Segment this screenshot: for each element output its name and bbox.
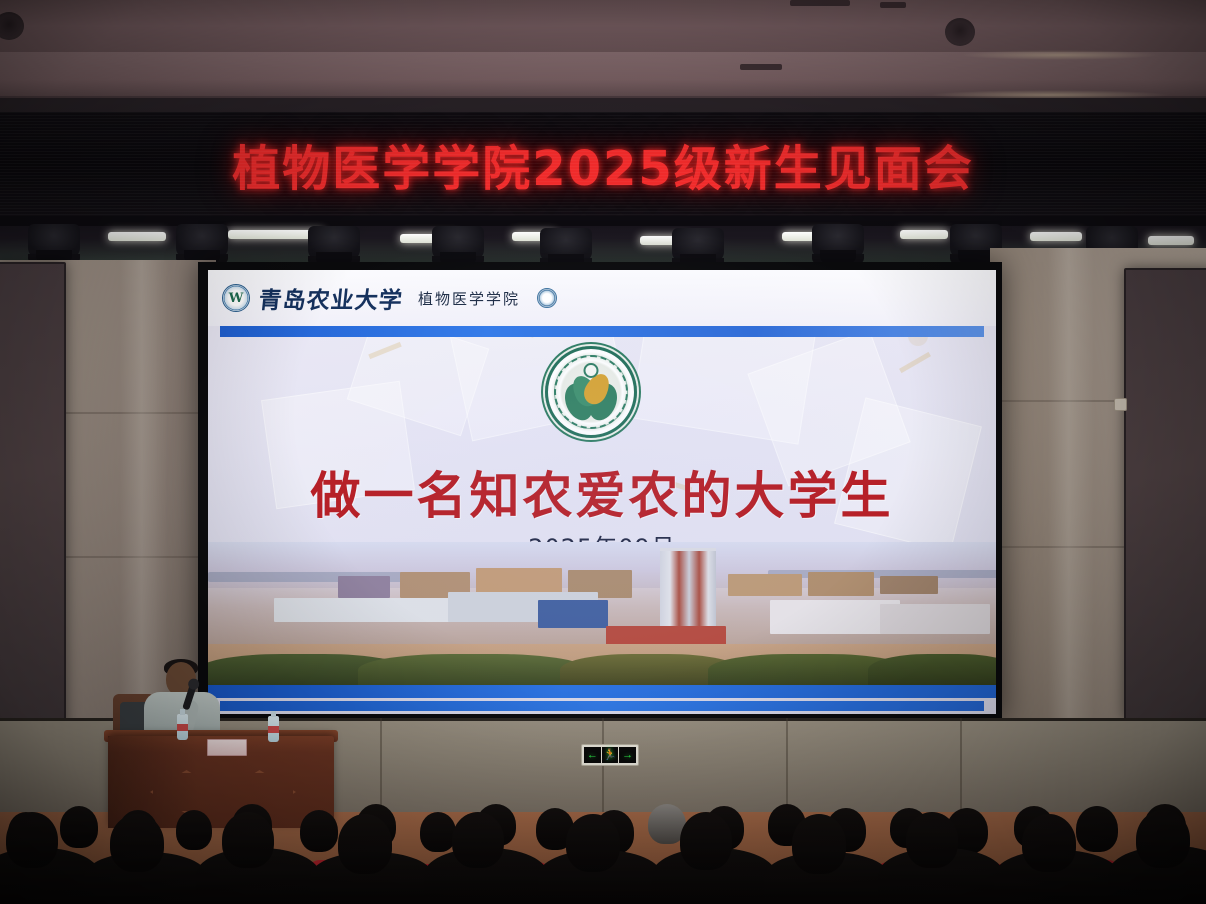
photo-building — [880, 604, 990, 634]
audience-head — [566, 814, 620, 872]
audience-head — [680, 812, 732, 870]
photo-high-rise — [660, 548, 716, 634]
presentation-slide: 青岛农业大学 植物医学学院 做一名知农爱农的大学生 2025年09月 — [208, 270, 996, 714]
audience-head — [420, 812, 456, 852]
audience-head — [222, 812, 274, 868]
photo-building — [728, 574, 802, 596]
slide-footer-bar — [220, 701, 984, 711]
slide-header-rule — [220, 326, 984, 337]
slide-header: 青岛农业大学 植物医学学院 — [208, 270, 996, 326]
audience-head — [338, 814, 392, 874]
spotlight-icon — [28, 224, 80, 258]
led-scanline-overlay — [0, 112, 1206, 216]
photo-building — [338, 576, 390, 598]
emergency-exit-icon: ← 🏃 → — [581, 744, 639, 766]
audience-head — [110, 814, 164, 872]
tube-light-icon — [1030, 232, 1082, 241]
exit-arrow-right: → — [622, 750, 633, 761]
emblem-top-dot — [584, 363, 599, 378]
spotlight-icon — [672, 228, 724, 262]
auditorium-scene: 植物医学学院2025级新生见面会 — [0, 0, 1206, 904]
audience-head — [6, 812, 58, 868]
wall-sheen — [120, 260, 168, 740]
university-name: 青岛农业大学 — [257, 281, 405, 315]
spotlight-icon — [308, 226, 360, 260]
wall-switch-plate[interactable] — [1114, 398, 1127, 411]
exit-arrow-left-cell: ← — [584, 747, 601, 763]
audience-head — [452, 812, 504, 868]
wall-sheen — [1048, 248, 1094, 748]
audience-head — [1022, 814, 1076, 872]
audience-head — [300, 810, 338, 852]
acoustic-panel-right — [1124, 268, 1206, 720]
speaker-name-card — [207, 739, 247, 756]
campus-photo — [208, 542, 996, 698]
led-banner: 植物医学学院2025级新生见面会 — [0, 112, 1206, 216]
audience-head — [906, 812, 958, 868]
photo-bottom-bar — [208, 685, 996, 698]
water-bottle-icon — [268, 716, 279, 742]
projection-screen: 青岛农业大学 植物医学学院 做一名知农爱农的大学生 2025年09月 — [198, 262, 1002, 720]
water-bottle-icon — [177, 714, 188, 740]
audience-head — [1136, 810, 1190, 868]
audience-head — [176, 810, 212, 850]
photo-building — [808, 572, 874, 596]
college-name: 植物医学学院 — [418, 288, 520, 309]
exit-arrow-right-cell: → — [619, 747, 636, 763]
seated-audience — [0, 784, 1206, 904]
audience-head — [60, 806, 98, 848]
ceiling-downlight-icon — [945, 18, 975, 46]
audience-head — [792, 814, 846, 874]
spotlight-icon — [540, 228, 592, 262]
exit-runner-cell: 🏃 — [602, 747, 619, 763]
tube-light-icon — [108, 232, 166, 241]
exit-arrow-left: ← — [587, 750, 598, 761]
ceiling-slot — [740, 64, 782, 70]
university-seal-icon — [222, 284, 250, 312]
photo-building — [880, 576, 938, 594]
photo-building — [606, 626, 726, 646]
ceiling-slot — [790, 0, 850, 6]
ceiling-light-glow — [960, 50, 1160, 60]
college-emblem-icon — [545, 346, 637, 438]
slide-accent-facet — [899, 352, 931, 373]
tube-light-icon — [1148, 236, 1194, 245]
slide-title: 做一名知农爱农的大学生 — [208, 456, 996, 528]
acoustic-panel-left — [0, 262, 66, 730]
photo-building — [538, 600, 608, 628]
ceiling-slot — [880, 2, 906, 8]
tube-light-icon — [900, 230, 948, 239]
spotlight-icon — [812, 224, 864, 258]
audience-head — [1076, 806, 1118, 852]
exit-running-man: 🏃 — [603, 750, 617, 761]
spotlight-icon — [432, 226, 484, 260]
college-seal-icon — [537, 288, 557, 308]
spotlight-icon — [176, 224, 228, 258]
